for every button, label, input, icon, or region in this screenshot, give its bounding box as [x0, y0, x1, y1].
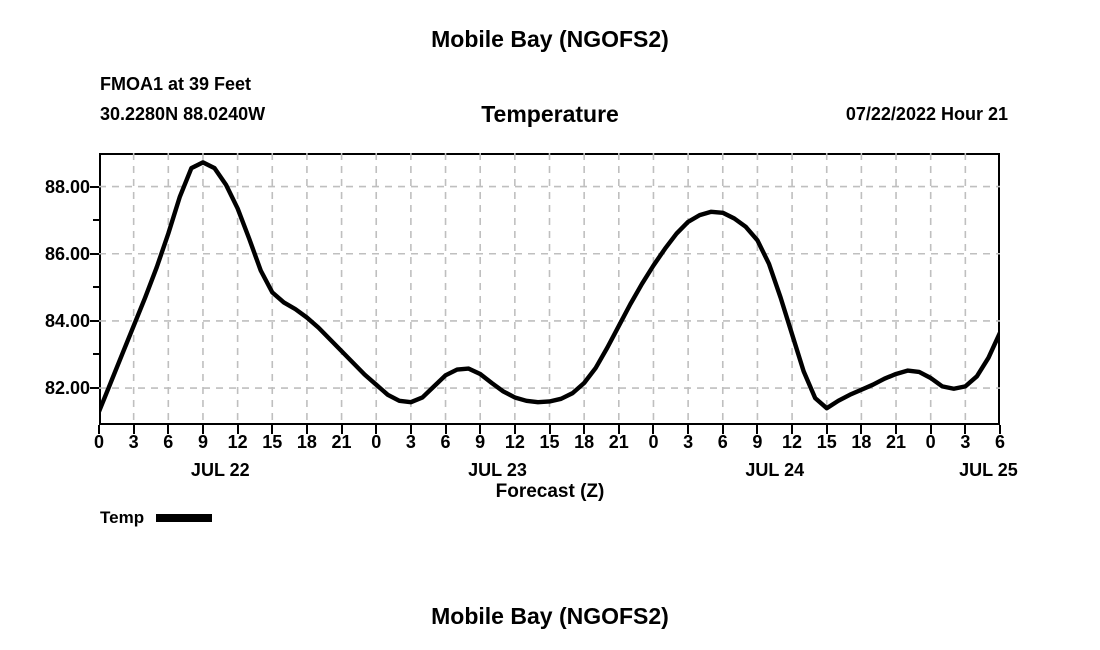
- chart-legend: Temp: [100, 508, 212, 528]
- x-axis-day-label: JUL 25: [959, 460, 1018, 481]
- x-axis-tick-label: 21: [332, 432, 352, 453]
- legend-item-label: Temp: [100, 508, 144, 528]
- x-axis-tick-mark: [167, 425, 169, 434]
- x-axis-tick-label: 6: [995, 432, 1005, 453]
- x-axis-tick-mark: [618, 425, 620, 434]
- x-axis-tick-label: 6: [163, 432, 173, 453]
- x-axis-tick-label: 9: [198, 432, 208, 453]
- x-axis-tick-mark: [306, 425, 308, 434]
- x-axis-tick-label: 3: [129, 432, 139, 453]
- x-axis-tick-mark: [479, 425, 481, 434]
- x-axis-day-label: JUL 22: [191, 460, 250, 481]
- x-axis-tick-mark: [687, 425, 689, 434]
- x-axis-tick-label: 12: [782, 432, 802, 453]
- x-axis-tick-label: 9: [475, 432, 485, 453]
- x-axis-tick-label: 0: [94, 432, 104, 453]
- x-axis-tick-mark: [860, 425, 862, 434]
- x-axis-day-label: JUL 23: [468, 460, 527, 481]
- x-axis-title: Forecast (Z): [0, 481, 1100, 503]
- x-axis-tick-mark: [722, 425, 724, 434]
- x-axis-tick-mark: [895, 425, 897, 434]
- x-axis-tick-label: 3: [406, 432, 416, 453]
- x-axis-tick-mark: [549, 425, 551, 434]
- y-axis-minor-tick: [93, 286, 99, 288]
- x-axis-tick-mark: [514, 425, 516, 434]
- y-axis-minor-tick: [93, 219, 99, 221]
- x-axis-tick-mark: [202, 425, 204, 434]
- x-axis-tick-mark: [930, 425, 932, 434]
- y-axis-tick-label: 84.00: [0, 311, 90, 332]
- x-axis-tick-label: 0: [648, 432, 658, 453]
- y-axis-tick-mark: [90, 320, 99, 322]
- x-axis-day-label: JUL 24: [745, 460, 804, 481]
- x-axis-tick-mark: [583, 425, 585, 434]
- x-axis-tick-mark: [756, 425, 758, 434]
- x-axis-tick-mark: [133, 425, 135, 434]
- x-axis-tick-label: 12: [228, 432, 248, 453]
- legend-line-swatch: [156, 514, 212, 522]
- x-axis-tick-label: 3: [960, 432, 970, 453]
- x-axis-tick-label: 15: [262, 432, 282, 453]
- x-axis-tick-label: 15: [539, 432, 559, 453]
- y-axis-tick-label: 86.00: [0, 244, 90, 265]
- page-title: Mobile Bay (NGOFS2): [0, 26, 1100, 53]
- x-axis-tick-mark: [999, 425, 1001, 434]
- footer-title: Mobile Bay (NGOFS2): [0, 603, 1100, 630]
- model-run-stamp: 07/22/2022 Hour 21: [846, 104, 1008, 125]
- y-axis-tick-mark: [90, 253, 99, 255]
- forecast-chart-page: Mobile Bay (NGOFS2) FMOA1 at 39 Feet 30.…: [0, 0, 1100, 650]
- y-axis-tick-label: 88.00: [0, 177, 90, 198]
- x-axis-tick-label: 6: [718, 432, 728, 453]
- x-axis-tick-mark: [826, 425, 828, 434]
- x-axis-tick-mark: [445, 425, 447, 434]
- x-axis-tick-label: 12: [505, 432, 525, 453]
- x-axis-tick-label: 18: [574, 432, 594, 453]
- x-axis-tick-label: 15: [817, 432, 837, 453]
- plot-area: [99, 153, 1000, 425]
- x-axis-tick-label: 21: [886, 432, 906, 453]
- temperature-line-chart: [99, 153, 1000, 425]
- x-axis-tick-mark: [410, 425, 412, 434]
- x-axis-tick-label: 18: [297, 432, 317, 453]
- x-axis-tick-mark: [237, 425, 239, 434]
- x-axis-tick-mark: [375, 425, 377, 434]
- x-axis-tick-label: 9: [752, 432, 762, 453]
- x-axis-tick-mark: [791, 425, 793, 434]
- y-axis-tick-label: 82.00: [0, 378, 90, 399]
- x-axis-tick-label: 0: [926, 432, 936, 453]
- x-axis-tick-mark: [652, 425, 654, 434]
- y-axis-minor-tick: [93, 353, 99, 355]
- y-axis-tick-mark: [90, 387, 99, 389]
- x-axis-tick-label: 21: [609, 432, 629, 453]
- x-axis-tick-mark: [964, 425, 966, 434]
- x-axis-tick-mark: [271, 425, 273, 434]
- x-axis-tick-mark: [98, 425, 100, 434]
- x-axis-tick-label: 18: [851, 432, 871, 453]
- x-axis-tick-label: 0: [371, 432, 381, 453]
- x-axis-tick-mark: [341, 425, 343, 434]
- y-axis-tick-mark: [90, 186, 99, 188]
- station-label: FMOA1 at 39 Feet: [100, 74, 251, 95]
- x-axis-tick-label: 6: [441, 432, 451, 453]
- x-axis-tick-label: 3: [683, 432, 693, 453]
